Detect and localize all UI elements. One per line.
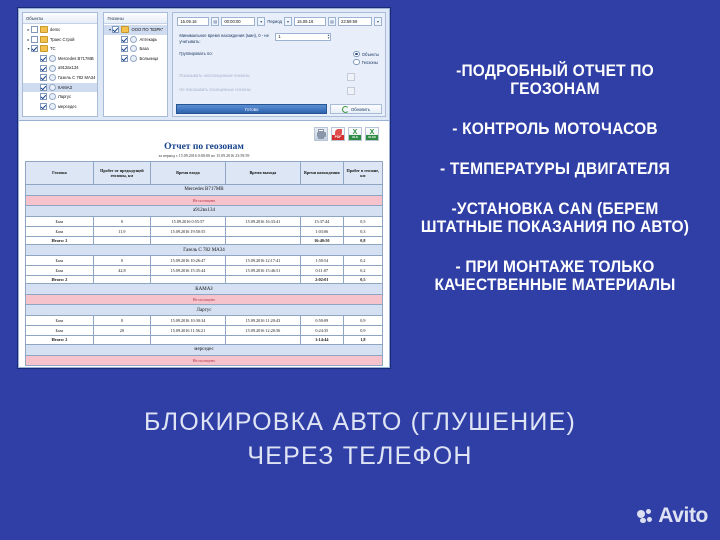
- object-tree-item-label: demo: [50, 25, 60, 35]
- no-visit-text: Не посещено: [26, 196, 383, 206]
- folder-icon: [40, 36, 48, 43]
- table-row: База015.09.2016 10:30:3415.09.2016 11:20…: [26, 316, 383, 326]
- duration-cell: 0:24:35: [300, 326, 343, 336]
- group-by-option[interactable]: Объекты: [353, 51, 379, 57]
- object-icon: [49, 74, 56, 81]
- checkbox-icon[interactable]: [31, 26, 38, 33]
- pdf-export-label: PDF: [332, 135, 344, 140]
- table-group-row: а912вх134: [26, 206, 383, 217]
- no-visit-row: Не посещено: [26, 295, 383, 305]
- checkbox-icon[interactable]: [40, 74, 47, 81]
- xls-export-label: XLS: [349, 135, 361, 140]
- application-screenshot: Объекты ▸demo▸Транс Строй▾ТСMercedes B71…: [18, 8, 390, 368]
- feature-item: - ПРИ МОНТАЖЕ ТОЛЬКО КАЧЕСТВЕННЫЕ МАТЕРИ…: [409, 258, 700, 294]
- time-from-input[interactable]: 00:00:00: [221, 17, 255, 26]
- table-total-row: Итого: 216:40:500,8: [26, 237, 383, 245]
- object-tree-item-label: мерседес: [58, 102, 77, 112]
- enter-time-cell: 15.09.2016 15:35:44: [150, 266, 225, 276]
- chevron-down-icon[interactable]: ▾: [257, 17, 265, 26]
- object-tree-item-label: Газель С 782 МА34: [58, 73, 95, 83]
- avito-wordmark: Avito: [658, 504, 708, 528]
- checkbox-icon[interactable]: [31, 45, 38, 52]
- table-row: База11,915.09.2016 19:50:551:03:060,3: [26, 227, 383, 237]
- duration-cell: 0:50:09: [300, 316, 343, 326]
- geozone-tree-item[interactable]: Больница: [104, 54, 167, 64]
- avito-watermark: Avito: [637, 504, 708, 528]
- no-visit-text: Не посещено: [26, 295, 383, 305]
- mileage-in-cell: 0,9: [343, 326, 382, 336]
- refresh-button[interactable]: Обновить: [330, 104, 382, 114]
- object-tree-item-label: Mercedes B717MB: [58, 54, 94, 64]
- group-name: а912вх134: [26, 206, 383, 217]
- time-to-input[interactable]: 23:59:59: [338, 17, 372, 26]
- zone-cell: База: [26, 256, 94, 266]
- object-tree-item-label: Транс Строй: [50, 35, 75, 45]
- disabled-options-group: Показывать непосещенные геозоныНе показы…: [173, 73, 385, 95]
- object-tree-item-label: КАМАЗ: [58, 83, 72, 93]
- folder-icon: [121, 26, 129, 33]
- calendar-icon[interactable]: ▤: [211, 17, 219, 26]
- panel-action-buttons: Готово Обновить: [176, 104, 382, 114]
- enter-time-cell: 15.09.2016 0:55:57: [150, 217, 225, 227]
- geozone-tree-item[interactable]: База: [104, 44, 167, 54]
- geozone-tree-item-label: База: [139, 44, 148, 54]
- table-column-header: Время нахождения: [300, 162, 343, 185]
- exit-time-cell: [225, 227, 300, 237]
- geozone-tree-item[interactable]: ▾ООО ПО "ВЗРК": [104, 25, 167, 35]
- enter-time-cell: 15.09.2016 10:26:47: [150, 256, 225, 266]
- pdf-export-icon[interactable]: PDF: [331, 127, 345, 141]
- table-body: Mercedes B717MBНе посещеноа912вх134База0…: [26, 185, 383, 366]
- enter-time-cell: 15.09.2016 10:30:34: [150, 316, 225, 326]
- period-label: Период: [267, 19, 282, 24]
- table-column-header: Время выхода: [225, 162, 300, 185]
- checkbox-icon[interactable]: [40, 84, 47, 91]
- checkbox-icon[interactable]: [40, 55, 47, 62]
- group-name: Газель С 782 МА34: [26, 245, 383, 256]
- report-title: Отчет по геозонам: [25, 142, 383, 152]
- duration-cell: 1:03:06: [300, 227, 343, 237]
- geozone-tree-item-label: Больница: [139, 54, 158, 64]
- table-column-header: Время входа: [150, 162, 225, 185]
- radio-icon[interactable]: [353, 51, 359, 57]
- total-mileage-prev: [93, 237, 150, 245]
- xlsx-export-label: XLSX: [366, 135, 378, 140]
- table-column-header: Пробег от предыдущей геозоны, км: [93, 162, 150, 185]
- disabled-checkbox-icon: [347, 73, 355, 81]
- group-name: Mercedes B717MB: [26, 185, 383, 196]
- group-by-row: Группировать по: ОбъектыГеозоны: [179, 51, 379, 67]
- done-button[interactable]: Готово: [176, 104, 327, 114]
- object-icon: [49, 84, 56, 91]
- disabled-option-label: Показывать непосещенные геозоны: [179, 73, 275, 79]
- min-duration-stepper[interactable]: 1 ▴▾: [275, 33, 331, 41]
- feature-item: -ПОДРОБНЫЙ ОТЧЕТ ПО ГЕОЗОНАМ: [409, 62, 700, 98]
- total-mileage-in: 1,8: [343, 336, 382, 344]
- export-toolbar: PDF X XLS X XLSX: [25, 127, 379, 141]
- total-enter: [150, 237, 225, 245]
- object-icon: [49, 55, 56, 62]
- table-group-row: Mercedes B717MB: [26, 185, 383, 196]
- disabled-option-row: Не показывать посещенные геозоны: [179, 87, 379, 95]
- mileage-prev-cell: 0: [93, 256, 150, 266]
- radio-icon[interactable]: [353, 59, 359, 65]
- total-exit: [225, 237, 300, 245]
- mileage-prev-cell: 42,8: [93, 266, 150, 276]
- mileage-in-cell: 0,9: [343, 316, 382, 326]
- caption-line-2: ЧЕРЕЗ ТЕЛЕФОН: [0, 439, 720, 473]
- object-tree-item[interactable]: а912вх134: [23, 63, 97, 73]
- total-mileage-prev: [93, 336, 150, 344]
- refresh-button-label: Обновить: [351, 107, 370, 112]
- feature-list: -ПОДРОБНЫЙ ОТЧЕТ ПО ГЕОЗОНАМ- КОНТРОЛЬ М…: [400, 62, 710, 316]
- checkbox-icon[interactable]: [31, 36, 38, 43]
- checkbox-icon[interactable]: [40, 65, 47, 72]
- group-by-option[interactable]: Геозоны: [353, 59, 379, 65]
- folder-icon: [40, 26, 48, 33]
- mileage-in-cell: 0,2: [343, 256, 382, 266]
- disabled-option-row: Показывать непосещенные геозоны: [179, 73, 379, 81]
- table-row: База015.09.2016 10:26:4715.09.2016 12:17…: [26, 256, 383, 266]
- table-total-row: Итого: 22:02:010,5: [26, 276, 383, 284]
- geozones-panel-header: Геозоны: [104, 13, 167, 24]
- total-exit: [225, 276, 300, 284]
- table-group-row: КАМАЗ: [26, 284, 383, 295]
- zone-cell: База: [26, 326, 94, 336]
- mileage-prev-cell: 0: [93, 316, 150, 326]
- total-duration: 2:02:01: [300, 276, 343, 284]
- object-icon: [49, 103, 56, 110]
- geozones-panel: Геозоны ▾ООО ПО "ВЗРК"АптекарьБазаБольни…: [103, 12, 168, 117]
- duration-cell: 1:50:54: [300, 256, 343, 266]
- report-output-area: PDF X XLS X XLSX Отчет по геозонам за пе…: [18, 121, 390, 368]
- object-icon: [49, 93, 56, 100]
- object-tree-item-label: Ларгус: [58, 92, 71, 102]
- total-label: Итого: 2: [26, 237, 94, 245]
- total-duration: 1:14:44: [300, 336, 343, 344]
- mileage-prev-cell: 0: [93, 217, 150, 227]
- table-column-header: Пробег в геозоне, км: [343, 162, 382, 185]
- table-row: База015.09.2016 0:55:5715.09.2016 16:33:…: [26, 217, 383, 227]
- no-visit-text: Не посещено: [26, 355, 383, 365]
- group-name: КАМАЗ: [26, 284, 383, 295]
- exit-time-cell: 15.09.2016 16:33:41: [225, 217, 300, 227]
- geozone-report-table: ГеозонаПробег от предыдущей геозоны, кмВ…: [25, 161, 383, 366]
- excel-xls-export-icon[interactable]: X XLS: [348, 127, 362, 141]
- mileage-in-cell: 0,3: [343, 227, 382, 237]
- total-mileage-in: 0,5: [343, 276, 382, 284]
- mileage-prev-cell: 11,9: [93, 227, 150, 237]
- zone-cell: База: [26, 217, 94, 227]
- group-by-label: Группировать по:: [179, 51, 275, 57]
- checkbox-icon[interactable]: [112, 26, 119, 33]
- object-tree-item[interactable]: ▸Транс Строй: [23, 35, 97, 45]
- exit-time-cell: 15.09.2016 12:20:56: [225, 326, 300, 336]
- enter-time-cell: 15.09.2016 11:56:21: [150, 326, 225, 336]
- bottom-caption: БЛОКИРОВКА АВТО (ГЛУШЕНИЕ) ЧЕРЕЗ ТЕЛЕФОН: [0, 405, 720, 473]
- disabled-checkbox-icon: [347, 87, 355, 95]
- exit-time-cell: 15.09.2016 15:46:51: [225, 266, 300, 276]
- time-to-dropdown-icon[interactable]: ▾: [374, 17, 382, 26]
- object-tree-item-label: а912вх134: [58, 63, 79, 73]
- table-group-row: мерседес: [26, 344, 383, 355]
- table-group-row: Ларгус: [26, 305, 383, 316]
- zone-icon: [130, 45, 137, 52]
- objects-panel: Объекты ▸demo▸Транс Строй▾ТСMercedes B71…: [22, 12, 98, 117]
- object-icon: [49, 65, 56, 72]
- date-to-input[interactable]: 15.09.16: [294, 17, 326, 26]
- total-enter: [150, 336, 225, 344]
- mileage-in-cell: 0,2: [343, 266, 382, 276]
- checkbox-icon[interactable]: [40, 93, 47, 100]
- object-tree-item[interactable]: Mercedes B717MB: [23, 54, 97, 64]
- group-name: мерседес: [26, 344, 383, 355]
- mileage-in-cell: 0,5: [343, 217, 382, 227]
- object-tree-item[interactable]: мерседес: [23, 102, 97, 112]
- disabled-option-label: Не показывать посещенные геозоны: [179, 87, 275, 93]
- total-label: Итого: 2: [26, 276, 94, 284]
- object-tree-item-label: ТС: [50, 44, 56, 54]
- group-by-options[interactable]: ОбъектыГеозоны: [353, 51, 379, 67]
- stepper-arrows-icon[interactable]: ▴▾: [328, 34, 331, 41]
- refresh-icon: [342, 106, 349, 113]
- table-header-row: ГеозонаПробег от предыдущей геозоны, кмВ…: [26, 162, 383, 185]
- feature-item: -УСТАНОВКА CAN (БЕРЕМ ШТАТНЫЕ ПОКАЗАНИЯ …: [409, 200, 700, 236]
- total-duration: 16:40:50: [300, 237, 343, 245]
- excel-xlsx-export-icon[interactable]: X XLSX: [365, 127, 379, 141]
- table-group-row: Газель С 782 МА34: [26, 245, 383, 256]
- object-tree-item[interactable]: Ларгус: [23, 92, 97, 102]
- exit-time-cell: 15.09.2016 11:20:43: [225, 316, 300, 326]
- print-icon[interactable]: [314, 127, 328, 141]
- total-enter: [150, 276, 225, 284]
- zone-icon: [130, 36, 137, 43]
- checkbox-icon[interactable]: [121, 45, 128, 52]
- group-by-option-label: Объекты: [362, 52, 379, 57]
- caption-line-1: БЛОКИРОВКА АВТО (ГЛУШЕНИЕ): [0, 405, 720, 439]
- geozone-tree-item-label: ООО ПО "ВЗРК": [131, 25, 163, 35]
- object-tree-item[interactable]: Газель С 782 МА34: [23, 73, 97, 83]
- duration-cell: 0:11:07: [300, 266, 343, 276]
- geozone-tree-item[interactable]: Аптекарь: [104, 35, 167, 45]
- no-visit-row: Не посещено: [26, 196, 383, 206]
- mileage-prev-cell: 20: [93, 326, 150, 336]
- object-tree-item[interactable]: ▾ТС: [23, 44, 97, 54]
- geozones-tree[interactable]: ▾ООО ПО "ВЗРК"АптекарьБазаБольница: [104, 24, 167, 63]
- checkbox-icon[interactable]: [40, 103, 47, 110]
- min-duration-row: Минимальное время нахождения (мин), 0 - …: [179, 33, 379, 45]
- report-config-panel: Объекты ▸demo▸Транс Строй▾ТСMercedes B71…: [18, 8, 390, 121]
- report-parameters-panel: 15.09.16 ▤ 00:00:00 ▾ Период ▾ 15.09.16 …: [172, 12, 386, 117]
- total-mileage-prev: [93, 276, 150, 284]
- objects-panel-header: Объекты: [23, 13, 97, 24]
- folder-icon: [40, 45, 48, 52]
- table-total-row: Итого: 21:14:441,8: [26, 336, 383, 344]
- feature-item: - ТЕМПЕРАТУРЫ ДВИГАТЕЛЯ: [409, 160, 700, 178]
- geozone-tree-item-label: Аптекарь: [139, 35, 157, 45]
- object-tree-item[interactable]: КАМАЗ: [23, 83, 97, 93]
- group-name: Ларгус: [26, 305, 383, 316]
- avito-dots-logo: [637, 509, 654, 524]
- date-range-toolbar: 15.09.16 ▤ 00:00:00 ▾ Период ▾ 15.09.16 …: [177, 16, 382, 27]
- objects-tree[interactable]: ▸demo▸Транс Строй▾ТСMercedes B717MBа912в…: [23, 24, 97, 111]
- total-label: Итого: 2: [26, 336, 94, 344]
- zone-cell: База: [26, 316, 94, 326]
- table-row: База2015.09.2016 11:56:2115.09.2016 12:2…: [26, 326, 383, 336]
- report-subtitle: за период с 15.09.2016 0:00:00 по 15.09.…: [25, 153, 383, 158]
- min-duration-label: Минимальное время нахождения (мин), 0 - …: [179, 33, 275, 45]
- period-dropdown-icon[interactable]: ▾: [284, 17, 292, 26]
- feature-item: - КОНТРОЛЬ МОТОЧАСОВ: [409, 120, 700, 138]
- zone-icon: [130, 55, 137, 62]
- group-by-option-label: Геозоны: [362, 60, 378, 65]
- total-mileage-in: 0,8: [343, 237, 382, 245]
- checkbox-icon[interactable]: [121, 36, 128, 43]
- calendar-to-icon[interactable]: ▤: [328, 17, 336, 26]
- enter-time-cell: 15.09.2016 19:50:55: [150, 227, 225, 237]
- total-exit: [225, 336, 300, 344]
- object-tree-item[interactable]: ▸demo: [23, 25, 97, 35]
- min-duration-value: 1: [278, 33, 280, 41]
- table-column-header: Геозона: [26, 162, 94, 185]
- table-row: База42,815.09.2016 15:35:4415.09.2016 15…: [26, 266, 383, 276]
- no-visit-row: Не посещено: [26, 355, 383, 365]
- duration-cell: 15:37:44: [300, 217, 343, 227]
- zone-cell: База: [26, 227, 94, 237]
- date-from-input[interactable]: 15.09.16: [177, 17, 209, 26]
- zone-cell: База: [26, 266, 94, 276]
- checkbox-icon[interactable]: [121, 55, 128, 62]
- exit-time-cell: 15.09.2016 12:17:41: [225, 256, 300, 266]
